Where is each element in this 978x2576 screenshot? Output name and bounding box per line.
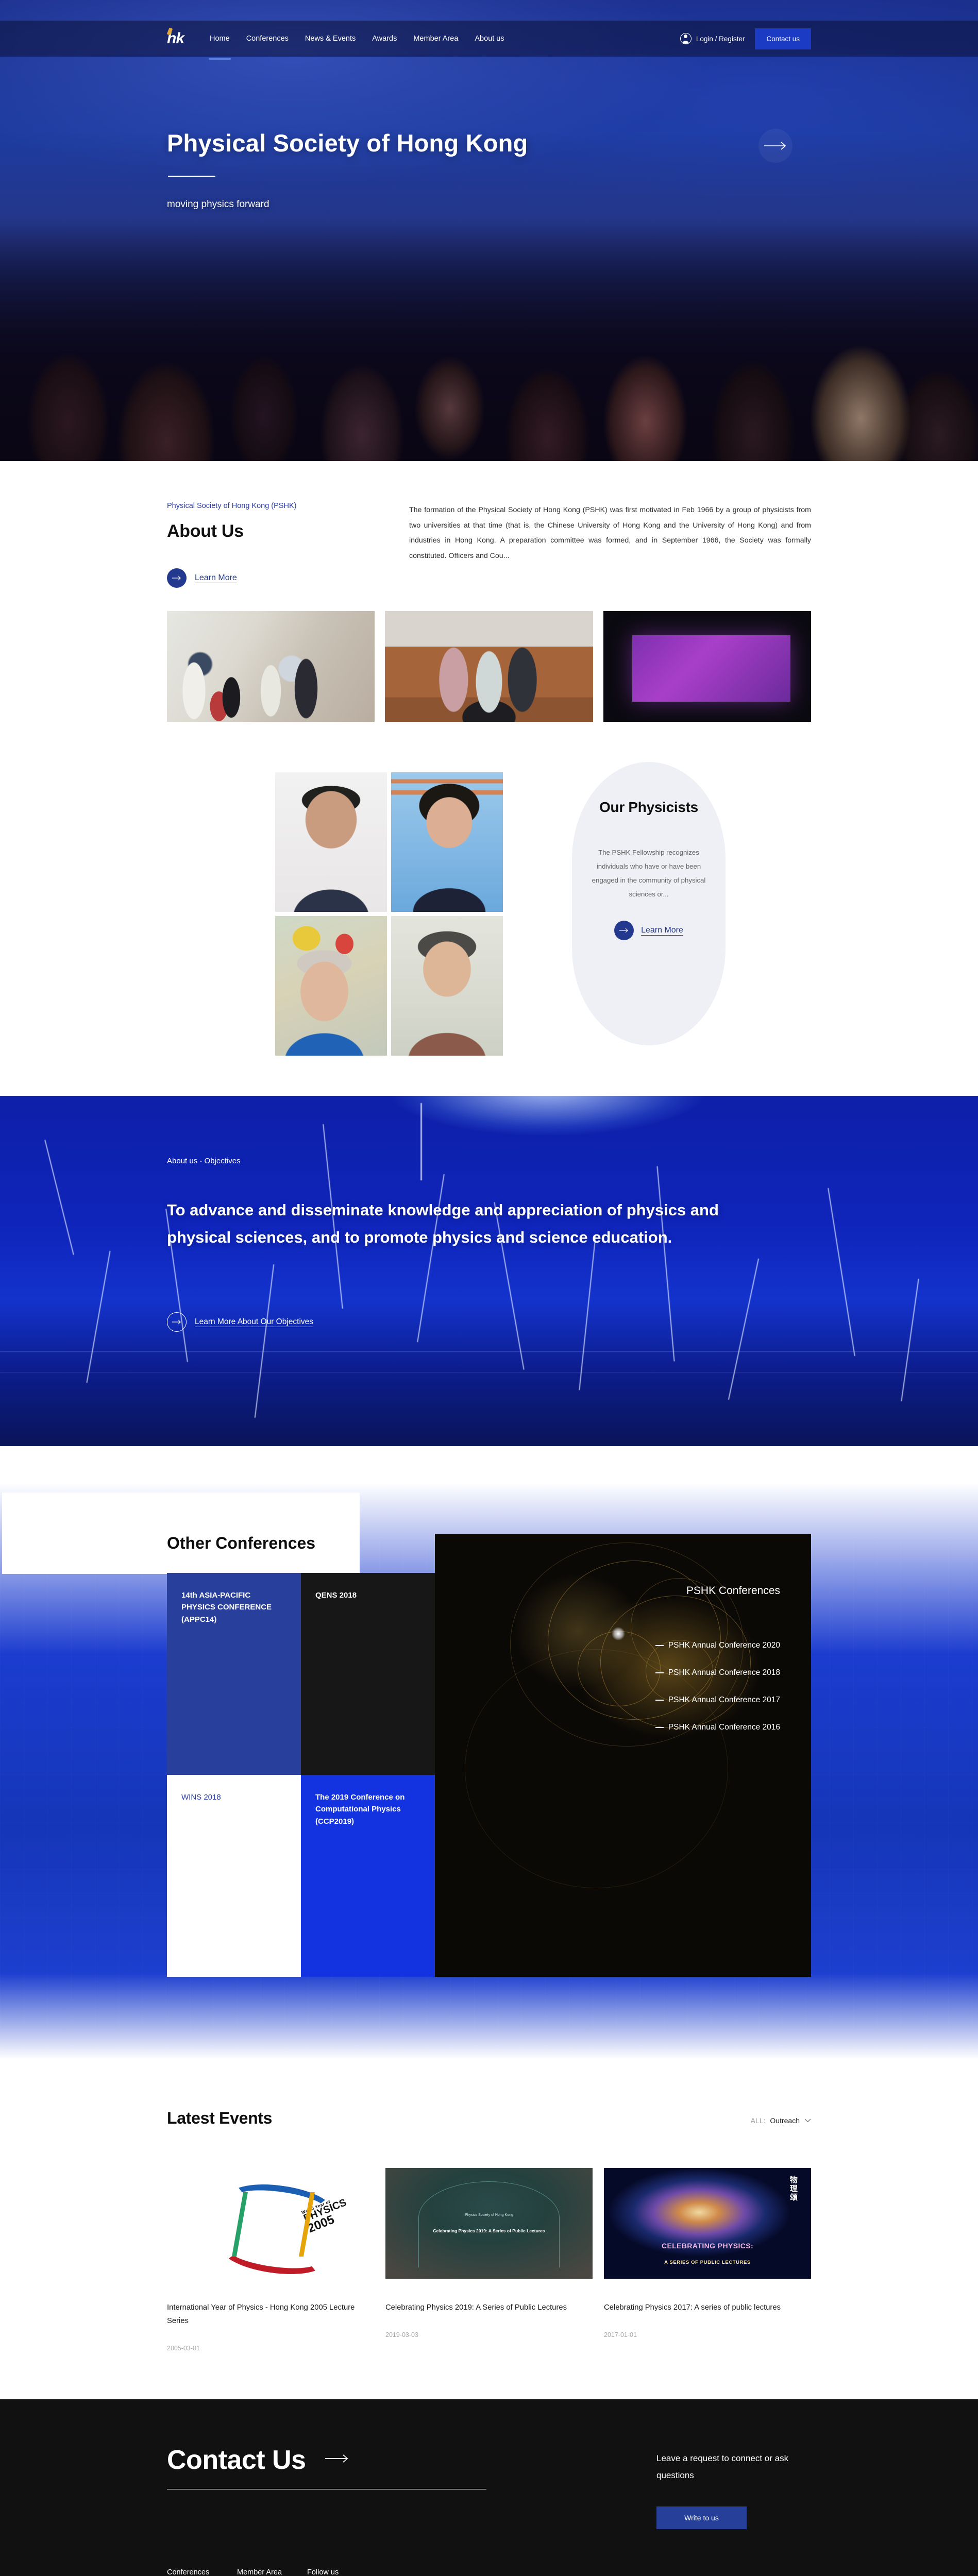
event-thumbnail: World Year of PHYSICS 2005 bbox=[167, 2168, 374, 2279]
physicist-portrait-2[interactable] bbox=[391, 772, 503, 912]
site-footer: Contact Us Leave a request to connect or… bbox=[0, 2399, 978, 2576]
pshk-conference-item[interactable]: PSHK Annual Conference 2017 bbox=[435, 1696, 780, 1705]
objectives-heading: To advance and disseminate knowledge and… bbox=[167, 1196, 744, 1251]
about-heading: About Us bbox=[167, 521, 409, 541]
conferences-title: Other Conferences bbox=[167, 1534, 315, 1552]
gallery-image-1[interactable] bbox=[167, 611, 375, 722]
physicists-learn-more-link[interactable]: Learn More bbox=[588, 921, 709, 940]
pshk-panel-title: PSHK Conferences bbox=[435, 1581, 780, 1601]
pshk-conference-item[interactable]: PSHK Annual Conference 2018 bbox=[435, 1668, 780, 1677]
dash-icon bbox=[655, 1672, 664, 1673]
nav-item-awards[interactable]: Awards bbox=[371, 32, 398, 45]
footer-link-column-1: Conferences Events Awards bbox=[167, 2568, 237, 2576]
footer-contact-heading: Contact Us bbox=[167, 2445, 306, 2476]
nav-item-conferences[interactable]: Conferences bbox=[245, 32, 290, 45]
event-thumb-line1: Physics Society of Hong Kong bbox=[385, 2213, 593, 2217]
contact-us-button[interactable]: Contact us bbox=[755, 28, 811, 49]
physicist-portrait-3[interactable] bbox=[275, 916, 387, 1056]
event-title: Celebrating Physics 2017: A series of pu… bbox=[604, 2301, 811, 2315]
gallery-image-3[interactable] bbox=[603, 611, 811, 722]
dash-icon bbox=[655, 1645, 664, 1646]
event-date: 2017-01-01 bbox=[604, 2331, 811, 2338]
arrow-right-icon bbox=[764, 141, 787, 150]
event-thumbnail: 物理頌 CELEBRATING PHYSICS: A SERIES OF PUB… bbox=[604, 2168, 811, 2279]
gallery-image-2[interactable] bbox=[385, 611, 593, 722]
footer-search-block: Search for the information Search bbox=[477, 2568, 811, 2576]
login-label: Login / Register bbox=[696, 35, 745, 43]
arrow-right-icon bbox=[167, 1312, 187, 1332]
about-learn-more-label: Learn More bbox=[195, 573, 237, 583]
nav-item-home[interactable]: Home bbox=[209, 32, 231, 45]
objectives-eyebrow: About us - Objectives bbox=[167, 1157, 811, 1165]
pshk-conference-label: PSHK Annual Conference 2018 bbox=[668, 1668, 780, 1677]
pshk-conference-label: PSHK Annual Conference 2017 bbox=[668, 1696, 780, 1705]
pshk-conference-item[interactable]: PSHK Annual Conference 2016 bbox=[435, 1723, 780, 1732]
nav-item-about-us[interactable]: About us bbox=[474, 32, 505, 45]
dash-icon bbox=[655, 1727, 664, 1728]
physicist-portrait-1[interactable] bbox=[275, 772, 387, 912]
about-section: Physical Society of Hong Kong (PSHK) Abo… bbox=[0, 461, 978, 742]
event-card[interactable]: Physics Society of Hong Kong Celebrating… bbox=[385, 2168, 593, 2352]
conference-tile-wins2018[interactable]: WINS 2018 bbox=[167, 1775, 301, 1977]
footer-link-member-area[interactable]: Member Area bbox=[237, 2568, 307, 2576]
main-navigation: hk Home Conferences News & Events Awards… bbox=[0, 21, 978, 57]
event-date: 2005-03-01 bbox=[167, 2345, 374, 2352]
event-thumb-line2: CELEBRATING PHYSICS: bbox=[604, 2242, 811, 2250]
footer-contact-arrow-button[interactable] bbox=[325, 2453, 349, 2466]
login-register-link[interactable]: Login / Register bbox=[680, 33, 745, 44]
physicists-description: The PSHK Fellowship recognizes individua… bbox=[588, 845, 709, 901]
events-title: Latest Events bbox=[167, 2109, 272, 2128]
arrow-right-icon bbox=[167, 568, 187, 588]
user-avatar-icon bbox=[680, 33, 692, 44]
event-title: Celebrating Physics 2019: A Series of Pu… bbox=[385, 2301, 593, 2315]
pshk-conference-list: PSHK Annual Conference 2020 PSHK Annual … bbox=[435, 1641, 780, 1732]
events-grid: World Year of PHYSICS 2005 International… bbox=[167, 2168, 811, 2352]
conferences-title-wrap: Other Conferences bbox=[167, 1513, 360, 1573]
dash-icon bbox=[655, 1700, 664, 1701]
latest-events-section: Latest Events ALL: Outreach World Year o… bbox=[0, 2059, 978, 2399]
event-date: 2019-03-03 bbox=[385, 2331, 593, 2338]
footer-link-conferences[interactable]: Conferences bbox=[167, 2568, 237, 2576]
nav-links: Home Conferences News & Events Awards Me… bbox=[209, 32, 505, 45]
objectives-section: About us - Objectives To advance and dis… bbox=[0, 1096, 978, 1446]
about-learn-more-link[interactable]: Learn More bbox=[167, 568, 409, 588]
event-thumb-line2: Celebrating Physics 2019: A Series of Pu… bbox=[385, 2228, 593, 2234]
pshk-conference-label: PSHK Annual Conference 2020 bbox=[668, 1641, 780, 1650]
site-logo[interactable]: hk bbox=[167, 31, 184, 46]
hero-divider bbox=[168, 176, 215, 177]
about-paragraph: The formation of the Physical Society of… bbox=[409, 503, 811, 564]
event-thumb-line3: A SERIES OF PUBLIC LECTURES bbox=[604, 2260, 811, 2265]
event-card[interactable]: 物理頌 CELEBRATING PHYSICS: A SERIES OF PUB… bbox=[604, 2168, 811, 2352]
event-thumbnail: Physics Society of Hong Kong Celebrating… bbox=[385, 2168, 593, 2279]
arrow-right-icon bbox=[614, 921, 634, 940]
physicists-learn-more-label: Learn More bbox=[641, 926, 683, 935]
event-card[interactable]: World Year of PHYSICS 2005 International… bbox=[167, 2168, 374, 2352]
hero-section: hk Home Conferences News & Events Awards… bbox=[0, 0, 978, 461]
hero-subtitle: moving physics forward bbox=[167, 199, 811, 210]
conference-tile-appc14[interactable]: 14th ASIA-PACIFIC PHYSICS CONFERENCE (AP… bbox=[167, 1573, 301, 1775]
pshk-conference-item[interactable]: PSHK Annual Conference 2020 bbox=[435, 1641, 780, 1650]
conferences-section: Other Conferences 14th ASIA-PACIFIC PHYS… bbox=[0, 1446, 978, 2059]
footer-request-text: Leave a request to connect or ask questi… bbox=[656, 2450, 811, 2484]
events-filter-all-label: ALL: bbox=[751, 2116, 766, 2125]
physicists-card: Our Physicists The PSHK Fellowship recog… bbox=[572, 762, 726, 1045]
objectives-link-label: Learn More About Our Objectives bbox=[195, 1317, 313, 1327]
about-gallery bbox=[167, 611, 811, 722]
hero-next-slide-button[interactable] bbox=[758, 129, 792, 163]
footer-contact-divider bbox=[167, 2489, 486, 2490]
objectives-learn-more-link[interactable]: Learn More About Our Objectives bbox=[167, 1312, 811, 1332]
events-filter-dropdown[interactable]: ALL: Outreach bbox=[751, 2116, 811, 2128]
conference-tile-ccp2019[interactable]: The 2019 Conference on Computational Phy… bbox=[301, 1775, 435, 1977]
event-thumb-line1: 物理頌 bbox=[788, 2176, 799, 2202]
events-filter-selected: Outreach bbox=[770, 2116, 800, 2125]
write-to-us-button[interactable]: Write to us bbox=[656, 2506, 747, 2529]
nav-item-news-events[interactable]: News & Events bbox=[304, 32, 357, 45]
physicist-portrait-grid bbox=[275, 772, 503, 1056]
conference-tile-qens2018[interactable]: QENS 2018 bbox=[301, 1573, 435, 1775]
physicists-heading: Our Physicists bbox=[588, 799, 709, 816]
physicists-section: Our Physicists The PSHK Fellowship recog… bbox=[0, 742, 978, 1096]
arrow-right-icon bbox=[325, 2453, 349, 2464]
pshk-conferences-panel: PSHK Conferences PSHK Annual Conference … bbox=[435, 1534, 811, 1977]
footer-link-column-2: Member Area About us bbox=[237, 2568, 307, 2576]
footer-follow-block: Follow us in f t o Email xwangcityu@gmai… bbox=[307, 2568, 477, 2576]
nav-item-member-area[interactable]: Member Area bbox=[412, 32, 459, 45]
pshk-conference-label: PSHK Annual Conference 2016 bbox=[668, 1723, 780, 1732]
physicist-portrait-4[interactable] bbox=[391, 916, 503, 1056]
chevron-down-icon bbox=[804, 2119, 811, 2123]
conference-tiles: 14th ASIA-PACIFIC PHYSICS CONFERENCE (AP… bbox=[167, 1573, 435, 1977]
footer-follow-heading: Follow us bbox=[307, 2568, 477, 2576]
hero-title: Physical Society of Hong Kong bbox=[167, 129, 811, 157]
about-eyebrow: Physical Society of Hong Kong (PSHK) bbox=[167, 502, 409, 510]
event-title: International Year of Physics - Hong Kon… bbox=[167, 2301, 374, 2328]
